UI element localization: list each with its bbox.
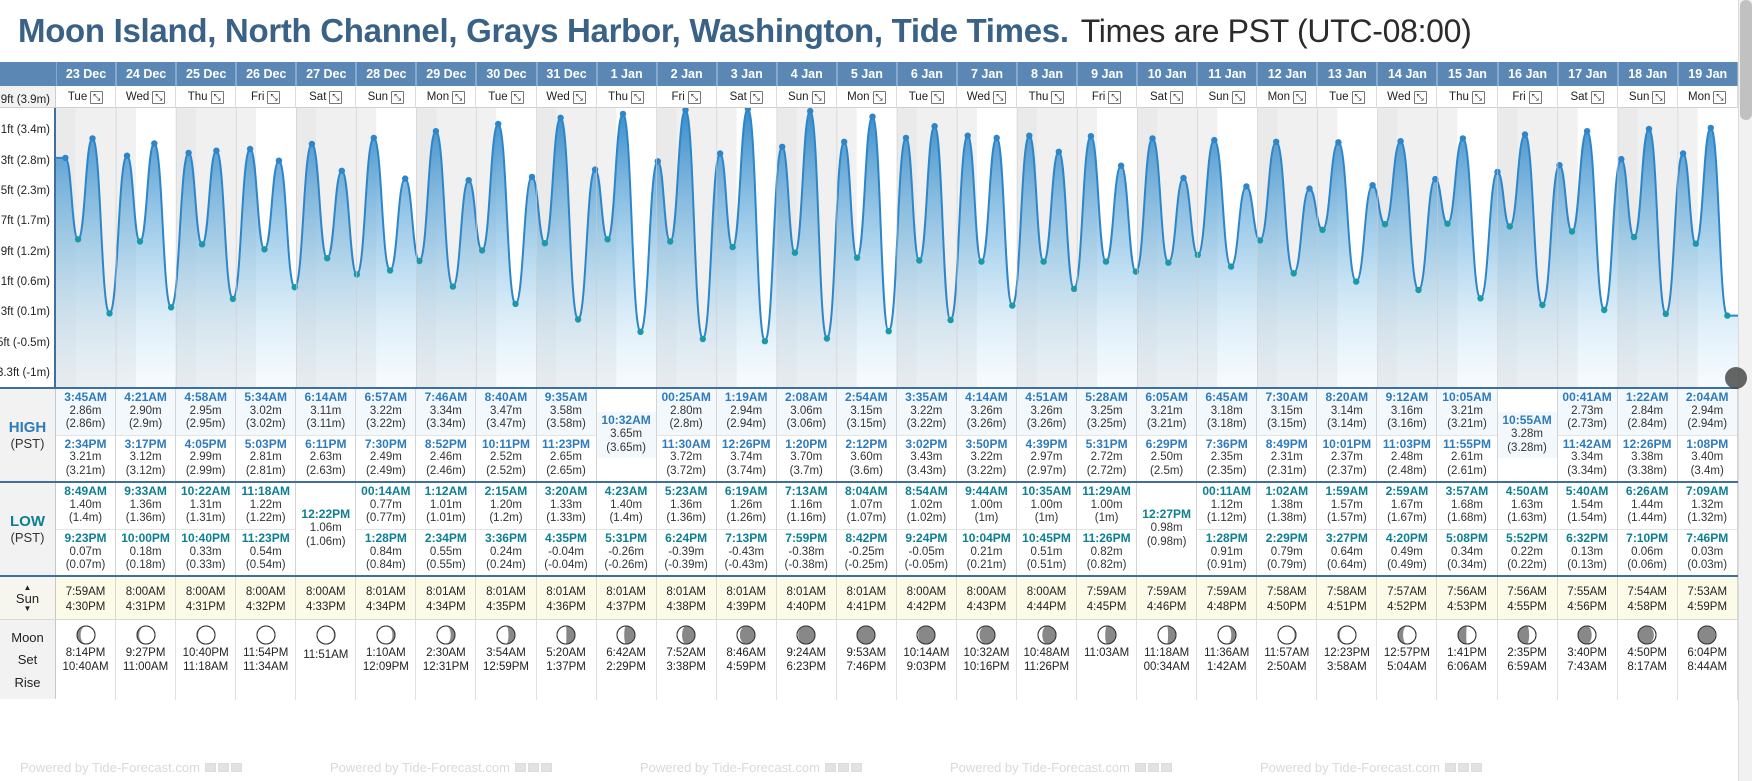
day-name-cell: Fri⤡ (1077, 86, 1137, 108)
moon-set-label: Set (18, 652, 38, 667)
date-header-cell[interactable]: 27 Dec (296, 62, 356, 86)
sunset-time: 4:31PM (186, 601, 226, 613)
low-tide-height-m: -0.39m (657, 546, 716, 559)
moonrise-time: 9:03PM (907, 661, 947, 673)
moon-cell: 12:23PM3:58AM (1317, 620, 1377, 700)
date-header-cell[interactable]: 11 Jan (1197, 62, 1257, 86)
moon-phase-icon (796, 625, 816, 645)
high-tide-height-paren: (2.95m) (176, 418, 235, 431)
moon-phase-icon (736, 625, 756, 645)
date-header-cell[interactable]: 7 Jan (957, 62, 1017, 86)
moon-cell: 3:54AM12:59PM (476, 620, 536, 700)
expand-icon[interactable]: ⤡ (573, 91, 586, 104)
date-header-cell[interactable]: 28 Dec (356, 62, 416, 86)
moonset-time: 1:41PM (1447, 647, 1487, 659)
high-tide-height-paren: (2.37m) (1317, 465, 1376, 478)
low-tide-cell: 7:13AM1.16m(1.16m)7:59PM-0.38m(-0.38m) (777, 483, 837, 575)
expand-icon[interactable]: ⤡ (211, 91, 224, 104)
expand-icon[interactable]: ⤡ (812, 91, 825, 104)
high-tide-height-m: 3.60m (837, 451, 896, 464)
moon-cell: 11:36AM1:42AM (1197, 620, 1257, 700)
moon-cell: 1:41PM6:06AM (1437, 620, 1497, 700)
expand-icon[interactable]: ⤡ (1108, 91, 1121, 104)
low-tide-height-paren: (1.36m) (116, 512, 175, 525)
high-tide-height-m: 2.63m (296, 451, 355, 464)
moon-phase-icon (316, 625, 336, 645)
date-header-cell[interactable]: 8 Jan (1017, 62, 1077, 86)
expand-icon[interactable]: ⤡ (1352, 91, 1365, 104)
low-tide-time: 1:02AM (1257, 485, 1316, 499)
sunrise-time: 8:01AM (786, 586, 826, 598)
sun-label-text: Sun (16, 592, 39, 605)
moon-cell: 11:03AM (1077, 620, 1137, 700)
high-tide-height-m: 3.34m (416, 405, 475, 418)
low-tide-event: 10:35AM1.00m(1m) (1017, 483, 1076, 529)
low-tide-point (1195, 252, 1201, 258)
tide-curve-svg (56, 108, 1738, 387)
high-tide-event: 7:30PM2.49m(2.49m) (356, 435, 415, 482)
low-tide-event: 10:00PM0.18m(0.18m) (116, 529, 175, 576)
moonset-time: 12:57PM (1384, 647, 1430, 659)
expand-icon[interactable]: ⤡ (993, 91, 1006, 104)
date-header-cell[interactable]: 6 Jan (897, 62, 957, 86)
low-tide-event: 7:09AM1.32m(1.32m) (1678, 483, 1737, 529)
sun-cell: 7:58AM4:51PM (1317, 577, 1377, 621)
low-tide-time: 1:12AM (416, 485, 475, 499)
low-tide-cell: 8:49AM1.40m(1.4m)9:23PM0.07m(0.07m) (56, 483, 116, 575)
high-tide-height-paren: (3.34m) (1558, 465, 1617, 478)
flag-icons (205, 763, 242, 772)
low-tide-height-m: 1.06m (296, 522, 355, 535)
sunset-time: 4:55PM (1507, 601, 1547, 613)
date-header-cell[interactable]: 14 Jan (1377, 62, 1437, 86)
day-name-cell: Sat⤡ (717, 86, 777, 108)
tide-chart-y-axis: 12.9ft (3.9m)11.1ft (3.4m)9.3ft (2.8m)7.… (0, 108, 56, 387)
high-tide-event: 9:12AM3.16m(3.16m) (1377, 389, 1436, 435)
moon-cell: 11:51AM (296, 620, 356, 700)
high-tide-height-m: 3.58m (537, 405, 596, 418)
sun-section: ▲ Sun ▼ 7:59AM4:30PM8:00AM4:31PM8:00AM4:… (0, 575, 1752, 619)
expand-icon[interactable]: ⤡ (152, 91, 165, 104)
page-title-timezone: Times are PST (UTC-08:00) (1081, 13, 1472, 50)
high-tide-height-m: 2.50m (1137, 451, 1196, 464)
low-tide-height-m: 0.77m (356, 499, 415, 512)
high-tide-cell: 5:28AM3.25m(3.25m)5:31PM2.72m(2.72m) (1077, 389, 1137, 481)
high-tide-height-paren: (3.21m) (1137, 418, 1196, 431)
low-tide-height-paren: (1m) (1077, 512, 1136, 525)
date-header-cell[interactable]: 19 Jan (1678, 62, 1738, 86)
y-axis-tick-label: 3.9ft (1.2m) (0, 246, 50, 258)
high-tide-height-paren: (2.86m) (56, 418, 115, 431)
moonset-time: 6:04PM (1687, 647, 1727, 659)
high-tide-event: 4:51AM3.26m(3.26m) (1017, 389, 1076, 435)
high-tide-point (247, 146, 253, 152)
expand-icon[interactable]: ⤡ (931, 91, 944, 104)
moon-cell: 8:14PM10:40AM (56, 620, 116, 700)
expand-icon[interactable]: ⤡ (1591, 91, 1604, 104)
low-tide-point (604, 236, 610, 242)
sunrise-time: 8:00AM (306, 586, 346, 598)
day-name-text: Tue (1329, 91, 1348, 103)
high-tide-event: 4:39PM2.97m(2.97m) (1017, 435, 1076, 482)
low-tide-event: 6:26AM1.44m(1.44m) (1618, 483, 1677, 529)
moon-cell: 10:14AM9:03PM (897, 620, 957, 700)
sun-cell: 7:59AM4:48PM (1197, 577, 1257, 621)
low-tide-time: 7:13PM (717, 532, 776, 546)
sun-cell: 7:57AM4:52PM (1377, 577, 1437, 621)
date-header-cell[interactable]: 16 Jan (1498, 62, 1558, 86)
date-header-cell[interactable]: 13 Jan (1317, 62, 1377, 86)
low-tide-event: 4:35PM-0.04m(-0.04m) (537, 529, 596, 576)
low-tide-time: 7:59PM (777, 532, 836, 546)
moon-cell: 10:40PM11:18AM (176, 620, 236, 700)
high-tide-point (1522, 131, 1528, 137)
high-tide-height-paren: (3.15m) (1257, 418, 1316, 431)
low-tide-cell: 00:11AM1.12m(1.12m)1:28PM0.91m(0.91m) (1197, 483, 1257, 575)
sun-cell: 7:59AM4:46PM (1137, 577, 1197, 621)
date-header-cell[interactable]: 24 Dec (116, 62, 176, 86)
expand-icon[interactable]: ⤡ (391, 91, 404, 104)
low-tide-event: 11:23PM0.54m(0.54m) (236, 529, 295, 576)
moonrise-time: 10:16PM (963, 661, 1009, 673)
high-tide-height-m: 2.65m (537, 451, 596, 464)
high-tide-height-paren: (2.9m) (116, 418, 175, 431)
y-axis-tick-label: 0.3ft (0.1m) (0, 306, 50, 318)
sunset-time: 4:30PM (66, 601, 106, 613)
expand-icon[interactable]: ⤡ (1414, 91, 1427, 104)
moon-phase-icon (1517, 625, 1537, 645)
high-tide-time: 8:20AM (1317, 391, 1376, 405)
low-tide-event: 6:19AM1.26m(1.26m) (717, 483, 776, 529)
date-header-cell[interactable]: 18 Jan (1618, 62, 1678, 86)
low-tide-point (1103, 258, 1109, 264)
expand-icon[interactable]: ⤡ (1652, 91, 1665, 104)
day-name-text: Mon (847, 91, 869, 103)
expand-icon[interactable]: ⤡ (1051, 91, 1064, 104)
low-tide-event: 2:59AM1.67m(1.67m) (1377, 483, 1436, 529)
watermark: Powered by Tide-Forecast.com (640, 760, 862, 775)
high-tide-point (371, 135, 377, 141)
low-tide-point (450, 283, 456, 289)
expand-icon[interactable]: ⤡ (1232, 91, 1245, 104)
moon-section: Moon Set Rise 8:14PM10:40AM9:27PM11:00AM… (0, 619, 1752, 699)
low-tide-point (575, 316, 581, 322)
high-tide-section: HIGH (PST) 3:45AM2.86m(2.86m)2:34PM3.21m… (0, 387, 1752, 481)
low-tide-time: 6:26AM (1618, 485, 1677, 499)
low-tide-point (1291, 270, 1297, 276)
sunset-time: 4:32PM (246, 601, 286, 613)
low-tide-height-paren: (0.98m) (1137, 536, 1196, 549)
scrollbar-thumb[interactable] (1740, 0, 1752, 120)
low-tide-height-paren: (0.82m) (1077, 559, 1136, 572)
high-tide-height-m: 2.48m (1377, 451, 1436, 464)
high-tide-time: 10:32AM (597, 414, 656, 428)
low-tide-height-paren: (0.24m) (476, 559, 535, 572)
high-tide-height-paren: (2.81m) (236, 465, 295, 478)
high-tide-height-m: 2.80m (657, 405, 716, 418)
vertical-scrollbar[interactable]: ▲ (1738, 0, 1752, 781)
low-tide-height-paren: (0.91m) (1197, 559, 1256, 572)
sunset-time: 4:40PM (786, 601, 826, 613)
low-tide-height-m: 1.67m (1377, 499, 1436, 512)
sunrise-time: 7:56AM (1447, 586, 1487, 598)
moon-cell: 5:20AM1:37PM (537, 620, 597, 700)
high-tide-event: 6:45AM3.18m(3.18m) (1197, 389, 1256, 435)
sunrise-time: 8:00AM (907, 586, 947, 598)
sunset-time: 4:48PM (1207, 601, 1247, 613)
expand-icon[interactable]: ⤡ (267, 91, 280, 104)
date-header-cell[interactable]: 25 Dec (176, 62, 236, 86)
high-tide-time: 1:20PM (777, 438, 836, 452)
low-tide-point (1539, 302, 1545, 308)
expand-icon[interactable]: ⤡ (631, 91, 644, 104)
low-tide-point (824, 335, 830, 341)
sunrise-time: 8:00AM (126, 586, 166, 598)
low-tide-height-m: 0.54m (236, 546, 295, 559)
high-tide-time: 12:26PM (1618, 438, 1677, 452)
high-tide-event: 6:57AM3.22m(3.22m) (356, 389, 415, 435)
date-header-cell[interactable]: 29 Dec (416, 62, 476, 86)
high-tide-event: 10:01PM2.37m(2.37m) (1317, 435, 1376, 482)
low-tide-height-m: 1.44m (1618, 499, 1677, 512)
high-tide-height-paren: (3.14m) (1317, 418, 1376, 431)
low-tide-time: 10:22AM (176, 485, 235, 499)
high-tide-cell: 8:20AM3.14m(3.14m)10:01PM2.37m(2.37m) (1317, 389, 1377, 481)
high-tide-height-paren: (2.61m) (1437, 465, 1496, 478)
low-tide-point (1228, 263, 1234, 269)
date-header-cell[interactable]: 23 Dec (56, 62, 116, 86)
moon-phase-icon (1277, 625, 1297, 645)
high-tide-time: 7:46AM (416, 391, 475, 405)
date-header-cell[interactable]: 12 Jan (1257, 62, 1317, 86)
low-tide-height-paren: (1.57m) (1317, 512, 1376, 525)
moonrise-time: 11:51AM (303, 649, 348, 661)
high-tide-height-m: 3.28m (1498, 428, 1557, 441)
date-header-cell[interactable]: 4 Jan (777, 62, 837, 86)
low-tide-height-paren: (0.18m) (116, 559, 175, 572)
high-tide-height-m: 2.35m (1197, 451, 1256, 464)
moon-phase-icon (136, 625, 156, 645)
low-tide-event: 2:15AM1.20m(1.2m) (476, 483, 535, 529)
high-tide-height-m: 2.95m (176, 405, 235, 418)
high-tide-cell: 00:41AM2.73m(2.73m)11:42AM3.34m(3.34m) (1558, 389, 1618, 481)
high-tide-event: 9:35AM3.58m(3.58m) (537, 389, 596, 435)
date-header-cell[interactable]: 9 Jan (1077, 62, 1137, 86)
sunset-time: 4:33PM (306, 601, 346, 613)
low-tide-height-paren: (0.84m) (356, 559, 415, 572)
sunset-time: 4:51PM (1327, 601, 1367, 613)
high-tide-event: 00:25AM2.80m(2.8m) (657, 389, 716, 435)
watermark-row: Powered by Tide-Forecast.com Powered by … (0, 753, 1752, 781)
high-tide-cell: 3:35AM3.22m(3.22m)3:02PM3.43m(3.43m) (897, 389, 957, 481)
low-tide-cell: 1:12AM1.01m(1.01m)2:34PM0.55m(0.55m) (416, 483, 476, 575)
high-tide-height-paren: (3.26m) (1017, 418, 1076, 431)
high-tide-height-paren: (3.34m) (416, 418, 475, 431)
high-tide-event: 1:22AM2.84m(2.84m) (1618, 389, 1677, 435)
date-header-cell[interactable]: 26 Dec (236, 62, 296, 86)
high-tide-point (1584, 128, 1590, 134)
high-tide-height-m: 3.74m (717, 451, 776, 464)
day-name-cell: Sun⤡ (1197, 86, 1257, 108)
high-tide-height-m: 2.94m (1678, 405, 1737, 418)
low-tide-height-paren: (1.06m) (296, 536, 355, 549)
high-tide-height-m: 2.99m (176, 451, 235, 464)
moonrise-time: 6:23PM (786, 661, 826, 673)
low-tide-point (479, 247, 485, 253)
low-tide-cell: 8:54AM1.02m(1.02m)9:24PM-0.05m(-0.05m) (897, 483, 957, 575)
low-tide-height-paren: (1.01m) (416, 512, 475, 525)
expand-icon[interactable]: ⤡ (1170, 91, 1183, 104)
high-tide-time: 6:14AM (296, 391, 355, 405)
low-tide-height-paren: (1.2m) (476, 512, 535, 525)
day-name-text: Sat (1570, 91, 1587, 103)
high-tide-point (1056, 149, 1062, 155)
date-header-cell[interactable]: 30 Dec (476, 62, 536, 86)
moon-cell: 2:30AM12:31PM (416, 620, 476, 700)
date-header-row: 23 Dec24 Dec25 Dec26 Dec27 Dec28 Dec29 D… (0, 62, 1752, 86)
low-tide-event: 10:04PM0.21m(0.21m) (957, 529, 1016, 576)
low-tide-time: 9:44AM (957, 485, 1016, 499)
expand-icon[interactable]: ⤡ (511, 91, 524, 104)
low-tide-height-m: 1.36m (657, 499, 716, 512)
expand-icon[interactable]: ⤡ (688, 91, 701, 104)
sunset-time: 4:46PM (1147, 601, 1187, 613)
high-tide-time: 8:40AM (476, 391, 535, 405)
low-tide-height-paren: (1m) (957, 512, 1016, 525)
high-tide-height-paren: (3.18m) (1197, 418, 1256, 431)
high-tide-height-m: 2.94m (717, 405, 776, 418)
low-tide-event: 7:46PM0.03m(0.03m) (1678, 529, 1737, 576)
high-tide-event: 3:35AM3.22m(3.22m) (897, 389, 956, 435)
watermark-text: Powered by Tide-Forecast.com (950, 760, 1130, 775)
high-tide-height-paren: (3.02m) (236, 418, 295, 431)
high-tide-event: 10:05AM3.21m(3.21m) (1437, 389, 1496, 435)
high-tide-point (1618, 156, 1624, 162)
expand-icon[interactable]: ⤡ (873, 91, 886, 104)
date-header-cell[interactable]: 15 Jan (1437, 62, 1497, 86)
expand-icon[interactable]: ⤡ (1713, 91, 1726, 104)
moon-cell: 7:52AM3:38PM (657, 620, 717, 700)
sun-cell: 7:59AM4:30PM (56, 577, 116, 621)
low-tide-cell: 11:18AM1.22m(1.22m)11:23PM0.54m(0.54m) (236, 483, 296, 575)
high-tide-height-paren: (2.97m) (1017, 465, 1076, 478)
high-tide-time: 11:30AM (657, 438, 716, 452)
high-tide-height-m: 3.40m (1678, 451, 1737, 464)
expand-icon[interactable]: ⤡ (329, 91, 342, 104)
high-tide-cell: 2:04AM2.94m(2.94m)1:08PM3.40m(3.4m) (1678, 389, 1738, 481)
date-header-cell[interactable]: 31 Dec (537, 62, 597, 86)
high-tide-height-m: 2.52m (476, 451, 535, 464)
low-tide-event: 3:20AM1.33m(1.33m) (537, 483, 596, 529)
low-tide-event: 3:57AM1.68m(1.68m) (1437, 483, 1496, 529)
high-tide-point (1211, 137, 1217, 143)
low-tide-event: 1:12AM1.01m(1.01m) (416, 483, 475, 529)
low-tide-cell: 2:15AM1.20m(1.2m)3:36PM0.24m(0.24m) (476, 483, 536, 575)
date-header-cell[interactable]: 1 Jan (597, 62, 657, 86)
low-tide-height-paren: (1.67m) (1377, 512, 1436, 525)
high-tide-cell: 5:34AM3.02m(3.02m)5:03PM2.81m(2.81m) (236, 389, 296, 481)
low-tide-event: 7:13PM-0.43m(-0.43m) (717, 529, 776, 576)
low-tide-time: 9:23PM (56, 532, 115, 546)
date-header-cell[interactable]: 10 Jan (1137, 62, 1197, 86)
low-tide-cell: 10:22AM1.31m(1.31m)10:40PM0.33m(0.33m) (176, 483, 236, 575)
high-tide-height-m: 3.21m (1437, 405, 1496, 418)
low-tide-event: 7:13AM1.16m(1.16m) (777, 483, 836, 529)
day-name-cell: Sun⤡ (777, 86, 837, 108)
high-tide-event: 5:34AM3.02m(3.02m) (236, 389, 295, 435)
day-name-cell: Tue⤡ (476, 86, 536, 108)
high-tide-cell: 1:22AM2.84m(2.84m)12:26PM3.38m(3.38m) (1618, 389, 1678, 481)
moon-phase-icon (1337, 625, 1357, 645)
expand-icon[interactable]: ⤡ (90, 91, 103, 104)
date-header-cell[interactable]: 3 Jan (717, 62, 777, 86)
high-tide-event: 3:45AM2.86m(2.86m) (56, 389, 115, 435)
low-tide-height-paren: (0.03m) (1678, 559, 1737, 572)
low-tide-point (416, 258, 422, 264)
day-name-cell: Sun⤡ (356, 86, 416, 108)
sunrise-time: 8:01AM (366, 586, 406, 598)
high-tide-event: 7:30AM3.15m(3.15m) (1257, 389, 1316, 435)
low-tide-point (1663, 311, 1669, 317)
moon-phase-icon (1697, 625, 1717, 645)
sunset-time: 4:34PM (426, 601, 466, 613)
low-tide-time: 2:29PM (1257, 532, 1316, 546)
low-tide-time: 4:23AM (597, 485, 656, 499)
expand-icon[interactable]: ⤡ (452, 91, 465, 104)
low-tide-event: 8:42PM-0.25m(-0.25m) (837, 529, 896, 576)
high-tide-time: 4:51AM (1017, 391, 1076, 405)
low-tide-event: 4:50AM1.63m(1.63m) (1498, 483, 1557, 529)
moonrise-time: 8:44AM (1687, 661, 1727, 673)
date-header-cell[interactable]: 5 Jan (837, 62, 897, 86)
expand-icon[interactable]: ⤡ (750, 91, 763, 104)
sunset-time: 4:36PM (546, 601, 586, 613)
high-tide-time: 1:19AM (717, 391, 776, 405)
moonrise-time: 10:40AM (63, 661, 109, 673)
low-tide-time: 1:28PM (356, 532, 415, 546)
sun-cell: 8:00AM4:44PM (1017, 577, 1077, 621)
low-tide-point (947, 317, 953, 323)
day-name-text: Sun (1208, 91, 1228, 103)
date-header-cell[interactable]: 2 Jan (657, 62, 717, 86)
high-tide-time: 3:35AM (897, 391, 956, 405)
low-tide-time: 2:15AM (476, 485, 535, 499)
expand-icon[interactable]: ⤡ (1472, 91, 1485, 104)
high-tide-height-m: 3.02m (236, 405, 295, 418)
tide-chart-plot-area (56, 108, 1752, 387)
high-tide-time: 11:42AM (1558, 438, 1617, 452)
low-tide-height-paren: (1.12m) (1197, 512, 1256, 525)
low-tide-label-text: LOW (10, 513, 45, 530)
low-tide-time: 4:35PM (537, 532, 596, 546)
high-tide-point (779, 144, 785, 150)
high-tide-height-m: 3.15m (1257, 405, 1316, 418)
low-tide-time: 11:29AM (1077, 485, 1136, 499)
day-name-text: Mon (427, 91, 449, 103)
expand-icon[interactable]: ⤡ (1529, 91, 1542, 104)
high-tide-height-paren: (2.8m) (657, 418, 716, 431)
moon-cell: 9:53AM7:46PM (837, 620, 897, 700)
date-header-cell[interactable]: 17 Jan (1558, 62, 1618, 86)
day-name-cell: Fri⤡ (236, 86, 296, 108)
high-tide-time: 2:34PM (56, 438, 115, 452)
low-tide-cell: 00:14AM0.77m(0.77m)1:28PM0.84m(0.84m) (356, 483, 416, 575)
day-name-text: Tue (909, 91, 928, 103)
high-tide-event: 12:26PM3.38m(3.38m) (1618, 435, 1677, 482)
high-tide-point (124, 153, 130, 159)
high-tide-event: 5:28AM3.25m(3.25m) (1077, 389, 1136, 435)
expand-icon[interactable]: ⤡ (1293, 91, 1306, 104)
